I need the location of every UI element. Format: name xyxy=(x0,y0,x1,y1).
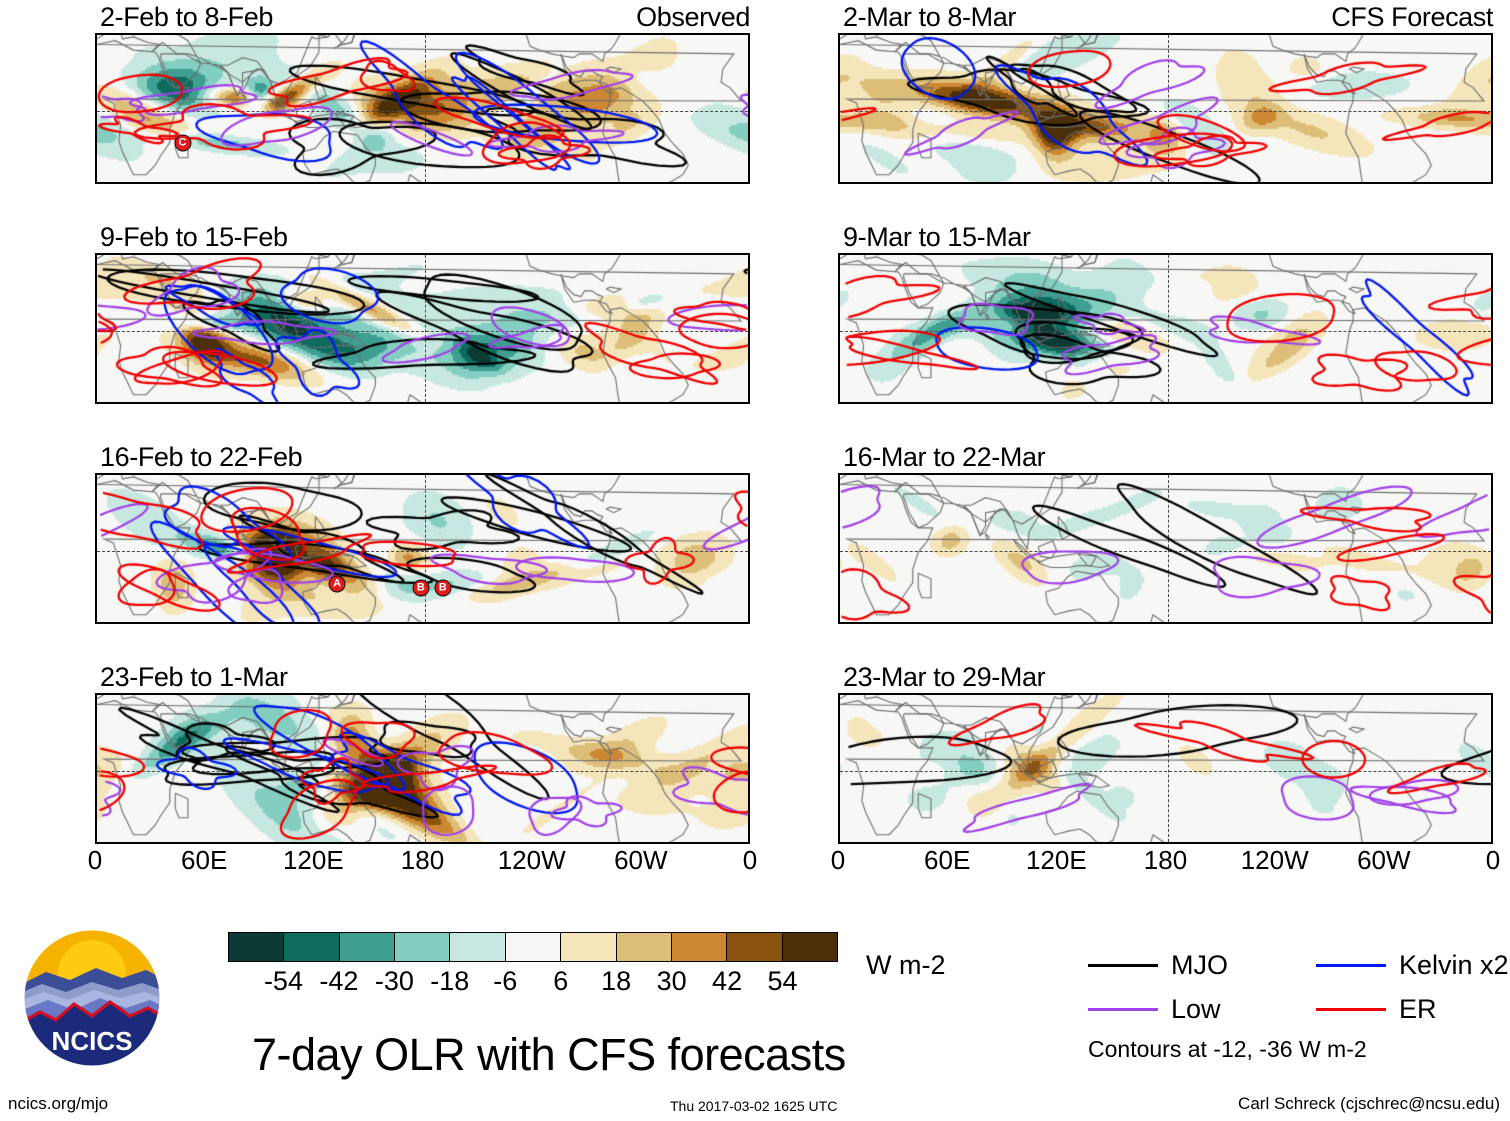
x-tick xyxy=(1459,253,1461,255)
y-tick xyxy=(748,827,750,830)
colorbar-swatch-5 xyxy=(506,933,561,961)
x-tick xyxy=(1386,622,1389,624)
y-tick xyxy=(95,588,97,590)
panel-title-obs-3: 16-Feb to 22-Feb xyxy=(100,442,302,473)
x-tick xyxy=(425,693,428,695)
y-tick xyxy=(1491,92,1493,94)
y-tick xyxy=(1491,808,1493,810)
wave-contours-obs-3 xyxy=(97,475,750,624)
y-tick xyxy=(748,494,750,497)
x-tick xyxy=(279,473,281,475)
x-tick xyxy=(206,253,209,255)
y-tick xyxy=(95,293,97,295)
y-tick xyxy=(838,35,840,37)
x-tick xyxy=(497,253,499,255)
y-tick xyxy=(95,789,97,791)
x-tick xyxy=(749,842,750,844)
lat-label-30S: 30S xyxy=(95,152,97,183)
y-tick xyxy=(748,733,750,735)
x-tick xyxy=(606,253,608,255)
x-tick xyxy=(949,842,952,844)
colorbar-swatch-3 xyxy=(395,933,450,961)
x-tick xyxy=(679,253,681,255)
y-tick xyxy=(748,752,750,754)
x-tick xyxy=(534,182,537,184)
y-tick xyxy=(1491,588,1493,590)
x-tick xyxy=(1386,473,1389,475)
x-tick xyxy=(643,473,646,475)
x-tick xyxy=(1277,842,1280,844)
lat-label-30S: 30S xyxy=(95,372,97,403)
x-tick xyxy=(388,253,390,255)
lon-label-0: 0 xyxy=(88,845,102,876)
x-tick xyxy=(388,402,390,404)
y-tick xyxy=(838,129,840,131)
x-tick xyxy=(534,842,537,844)
x-tick xyxy=(243,693,245,695)
x-tick xyxy=(1240,473,1242,475)
lon-label-180: 180 xyxy=(1144,845,1187,876)
x-tick xyxy=(986,253,988,255)
x-tick xyxy=(133,842,135,844)
x-tick xyxy=(1095,473,1097,475)
colorbar-swatch-8 xyxy=(672,933,727,961)
x-tick xyxy=(1240,693,1242,695)
panel-title-fcst-3: 16-Mar to 22-Mar xyxy=(843,442,1045,473)
y-tick xyxy=(1491,827,1493,830)
contour-note: Contours at -12, -36 W m-2 xyxy=(1088,1036,1367,1063)
x-tick xyxy=(1349,402,1351,404)
x-tick xyxy=(315,253,318,255)
x-tick xyxy=(840,253,843,255)
x-tick xyxy=(749,693,750,695)
x-tick xyxy=(461,842,463,844)
x-tick xyxy=(461,693,463,695)
cyclone-marker: B xyxy=(412,580,429,597)
x-tick xyxy=(497,182,499,184)
x-tick xyxy=(206,842,209,844)
x-tick xyxy=(1386,842,1389,844)
figure-root: 2-Feb to 8-FebObserved30N030SC9-Feb to 1… xyxy=(0,0,1510,1121)
y-tick xyxy=(748,771,750,774)
x-tick xyxy=(1095,182,1097,184)
x-tick xyxy=(1422,402,1424,404)
x-tick xyxy=(243,33,245,35)
map-plot-area-obs-4: 30N030S xyxy=(95,693,750,844)
x-tick xyxy=(716,33,718,35)
y-tick xyxy=(95,255,97,257)
x-tick xyxy=(1492,693,1493,695)
x-tick xyxy=(97,182,100,184)
colorbar-swatch-2 xyxy=(340,933,395,961)
x-tick xyxy=(206,622,209,624)
lat-label-30N: 30N xyxy=(95,698,97,729)
x-tick xyxy=(1459,33,1461,35)
x-tick xyxy=(1022,473,1024,475)
y-tick xyxy=(1491,368,1493,370)
x-tick xyxy=(1277,402,1280,404)
x-tick xyxy=(97,842,100,844)
x-tick xyxy=(1058,253,1061,255)
y-tick xyxy=(748,513,750,515)
x-tick xyxy=(679,402,681,404)
colorbar-swatch-9 xyxy=(727,933,782,961)
x-tick xyxy=(1204,473,1206,475)
y-tick xyxy=(748,387,750,390)
x-tick xyxy=(388,842,390,844)
y-tick xyxy=(1491,54,1493,57)
y-tick xyxy=(1491,771,1493,774)
x-tick xyxy=(133,402,135,404)
colorbar-tick--30: -30 xyxy=(375,966,414,997)
panel-title-fcst-2: 9-Mar to 15-Mar xyxy=(843,222,1031,253)
y-tick xyxy=(748,714,750,717)
y-tick xyxy=(1491,331,1493,334)
x-tick xyxy=(716,473,718,475)
x-tick xyxy=(1492,842,1493,844)
x-tick xyxy=(461,253,463,255)
legend-label: Low xyxy=(1171,996,1221,1023)
x-tick xyxy=(986,402,988,404)
x-tick xyxy=(170,33,172,35)
x-tick xyxy=(1422,842,1424,844)
x-tick xyxy=(1459,402,1461,404)
x-tick xyxy=(643,622,646,624)
y-tick xyxy=(1491,255,1493,257)
colorbar-tick-18: 18 xyxy=(601,966,631,997)
map-panel-obs-2: 9-Feb to 15-Feb30N030S xyxy=(95,222,750,404)
x-tick xyxy=(206,182,209,184)
y-tick xyxy=(748,148,750,150)
lon-label-60E: 60E xyxy=(924,845,970,876)
x-tick xyxy=(1422,622,1424,624)
x-tick xyxy=(1386,253,1389,255)
x-tick xyxy=(1131,842,1133,844)
x-tick xyxy=(1095,402,1097,404)
cyclone-marker: A xyxy=(329,576,346,593)
cyclone-marker: C xyxy=(174,134,191,151)
panel-title-fcst-1: 2-Mar to 8-Mar xyxy=(843,2,1016,33)
x-tick xyxy=(1349,473,1351,475)
x-tick xyxy=(315,842,318,844)
x-tick xyxy=(315,473,318,475)
x-tick xyxy=(1240,33,1242,35)
x-tick xyxy=(749,402,750,404)
x-tick xyxy=(606,182,608,184)
y-tick xyxy=(95,349,97,351)
map-plot-area-obs-1: 30N030SC xyxy=(95,33,750,184)
y-tick xyxy=(748,808,750,810)
x-tick xyxy=(913,693,915,695)
map-panel-obs-4: 23-Feb to 1-Mar30N030S xyxy=(95,662,750,844)
x-tick xyxy=(352,473,354,475)
x-tick xyxy=(876,182,878,184)
x-tick xyxy=(97,473,100,475)
wave-contours-fcst-1 xyxy=(840,35,1493,184)
y-tick xyxy=(1491,607,1493,610)
x-tick xyxy=(315,622,318,624)
x-tick xyxy=(206,473,209,475)
x-tick xyxy=(279,33,281,35)
x-tick xyxy=(534,622,537,624)
lon-label-120E: 120E xyxy=(283,845,344,876)
x-tick xyxy=(1313,693,1315,695)
x-tick xyxy=(170,402,172,404)
x-tick xyxy=(1058,33,1061,35)
colorbar-tick--42: -42 xyxy=(319,966,358,997)
x-tick xyxy=(279,182,281,184)
x-tick xyxy=(679,33,681,35)
y-tick xyxy=(95,752,97,754)
x-tick xyxy=(840,842,843,844)
x-tick xyxy=(1131,693,1133,695)
contour-legend: MJOKelvin x2LowER xyxy=(1088,952,1498,1032)
lon-label-0: 0 xyxy=(831,845,845,876)
x-tick xyxy=(986,693,988,695)
x-tick xyxy=(913,33,915,35)
x-tick xyxy=(1313,182,1315,184)
x-tick xyxy=(749,182,750,184)
map-panel-fcst-4: 23-Mar to 29-Mar xyxy=(838,662,1493,844)
x-tick xyxy=(425,33,428,35)
x-tick xyxy=(1422,693,1424,695)
legend-line-swatch xyxy=(1316,964,1386,967)
y-tick xyxy=(748,695,750,697)
y-tick xyxy=(748,35,750,37)
x-tick xyxy=(534,402,537,404)
x-tick xyxy=(1168,253,1171,255)
x-tick xyxy=(1349,253,1351,255)
y-tick xyxy=(838,551,840,554)
x-tick xyxy=(1240,182,1242,184)
x-tick xyxy=(388,182,390,184)
y-tick xyxy=(748,368,750,370)
y-tick xyxy=(748,475,750,477)
logo-text: NCICS xyxy=(52,1026,133,1056)
y-tick xyxy=(1491,349,1493,351)
lon-label-120W: 120W xyxy=(498,845,566,876)
x-tick xyxy=(716,842,718,844)
y-tick xyxy=(1491,274,1493,277)
x-tick xyxy=(243,182,245,184)
y-tick xyxy=(748,588,750,590)
wave-contours-obs-1 xyxy=(97,35,750,184)
y-tick xyxy=(95,695,97,697)
x-tick xyxy=(425,182,428,184)
x-tick xyxy=(876,473,878,475)
y-tick xyxy=(1491,387,1493,390)
map-panel-obs-3: 16-Feb to 22-Feb30N030SABB xyxy=(95,442,750,624)
x-tick xyxy=(1386,182,1389,184)
x-tick xyxy=(876,33,878,35)
x-tick xyxy=(352,842,354,844)
x-tick xyxy=(1095,842,1097,844)
map-panel-fcst-1: 2-Mar to 8-MarCFS Forecast xyxy=(838,2,1493,184)
x-tick xyxy=(97,253,100,255)
x-axis-labels-left: 060E120E180120W60W0 xyxy=(95,845,750,879)
y-tick xyxy=(1491,73,1493,75)
x-tick xyxy=(913,253,915,255)
x-tick xyxy=(1095,33,1097,35)
lon-label-60W: 60W xyxy=(614,845,667,876)
x-tick xyxy=(1058,693,1061,695)
y-tick xyxy=(1491,752,1493,754)
y-tick xyxy=(838,73,840,75)
page-title: 7-day OLR with CFS forecasts xyxy=(252,1029,846,1081)
x-tick xyxy=(986,33,988,35)
x-tick xyxy=(986,182,988,184)
ncics-logo: NCICS xyxy=(22,928,162,1068)
x-tick xyxy=(1058,182,1061,184)
x-tick xyxy=(170,182,172,184)
y-tick xyxy=(838,714,840,717)
x-tick xyxy=(1058,842,1061,844)
x-tick xyxy=(986,622,988,624)
panel-title-fcst-4: 23-Mar to 29-Mar xyxy=(843,662,1045,693)
map-plot-area-fcst-3 xyxy=(838,473,1493,624)
panel-title-obs-1: 2-Feb to 8-Feb xyxy=(100,2,273,33)
x-tick xyxy=(388,622,390,624)
x-tick xyxy=(1168,693,1171,695)
x-tick xyxy=(1349,622,1351,624)
x-tick xyxy=(840,402,843,404)
colorbar-tick-30: 30 xyxy=(657,966,687,997)
x-tick xyxy=(279,253,281,255)
x-tick xyxy=(1168,33,1171,35)
y-tick xyxy=(838,695,840,697)
x-axis-labels-right: 060E120E180120W60W0 xyxy=(838,845,1493,879)
x-tick xyxy=(1240,253,1242,255)
x-tick xyxy=(497,33,499,35)
x-tick xyxy=(1422,182,1424,184)
x-tick xyxy=(243,473,245,475)
x-tick xyxy=(643,182,646,184)
y-tick xyxy=(838,752,840,754)
colorbar-tick--18: -18 xyxy=(430,966,469,997)
y-tick xyxy=(838,513,840,515)
y-tick xyxy=(1491,129,1493,131)
y-tick xyxy=(748,54,750,57)
x-tick xyxy=(570,622,572,624)
y-tick xyxy=(95,312,97,314)
x-tick xyxy=(1204,693,1206,695)
x-tick xyxy=(1131,33,1133,35)
x-tick xyxy=(352,622,354,624)
y-tick xyxy=(748,73,750,75)
x-tick xyxy=(133,253,135,255)
x-tick xyxy=(133,622,135,624)
map-panel-fcst-2: 9-Mar to 15-Mar xyxy=(838,222,1493,404)
x-tick xyxy=(1492,473,1493,475)
x-tick xyxy=(876,842,878,844)
colorbar-swatch-7 xyxy=(617,933,672,961)
x-tick xyxy=(1277,33,1280,35)
column-header-left: Observed xyxy=(636,2,750,33)
y-tick xyxy=(838,588,840,590)
x-tick xyxy=(1313,33,1315,35)
x-tick xyxy=(606,842,608,844)
column-header-right: CFS Forecast xyxy=(1331,2,1493,33)
x-tick xyxy=(1095,693,1097,695)
y-tick xyxy=(95,73,97,75)
x-tick xyxy=(1277,473,1280,475)
x-tick xyxy=(497,622,499,624)
x-tick xyxy=(1459,693,1461,695)
x-tick xyxy=(1277,693,1280,695)
x-tick xyxy=(1131,622,1133,624)
legend-line-swatch xyxy=(1088,1008,1158,1011)
lon-label-180: 180 xyxy=(401,845,444,876)
wave-contours-fcst-3 xyxy=(840,475,1493,624)
y-tick xyxy=(838,475,840,477)
x-tick xyxy=(949,693,952,695)
x-tick xyxy=(97,622,100,624)
y-tick xyxy=(748,92,750,94)
x-tick xyxy=(570,693,572,695)
x-tick xyxy=(679,622,681,624)
x-tick xyxy=(534,473,537,475)
colorbar-tick-54: 54 xyxy=(768,966,798,997)
lat-label-0: 0 xyxy=(95,755,97,786)
cyclone-marker: B xyxy=(434,580,451,597)
x-tick xyxy=(425,402,428,404)
y-tick xyxy=(95,808,97,810)
wave-contours-obs-2 xyxy=(97,255,750,404)
y-tick xyxy=(95,129,97,131)
x-tick xyxy=(315,33,318,35)
x-tick xyxy=(913,622,915,624)
author-credit: Carl Schreck (cjschrec@ncsu.edu) xyxy=(1238,1094,1500,1114)
y-tick xyxy=(838,607,840,610)
x-tick xyxy=(1313,473,1315,475)
x-tick xyxy=(876,253,878,255)
y-tick xyxy=(838,387,840,390)
x-tick xyxy=(170,622,172,624)
lon-label-60W: 60W xyxy=(1357,845,1410,876)
x-tick xyxy=(840,622,843,624)
x-tick xyxy=(1422,253,1424,255)
y-tick xyxy=(748,167,750,170)
legend-line-swatch xyxy=(1088,964,1158,967)
y-tick xyxy=(95,368,97,370)
x-tick xyxy=(534,693,537,695)
y-tick xyxy=(95,92,97,94)
x-tick xyxy=(315,693,318,695)
x-tick xyxy=(1131,182,1133,184)
x-tick xyxy=(170,842,172,844)
x-tick xyxy=(1349,842,1351,844)
colorbar-tick--54: -54 xyxy=(264,966,303,997)
x-tick xyxy=(986,473,988,475)
y-tick xyxy=(1491,494,1493,497)
y-tick xyxy=(748,789,750,791)
x-tick xyxy=(461,33,463,35)
x-tick xyxy=(1168,473,1171,475)
x-tick xyxy=(1349,182,1351,184)
x-tick xyxy=(1058,473,1061,475)
lon-label-120W: 120W xyxy=(1241,845,1309,876)
x-tick xyxy=(279,842,281,844)
y-tick xyxy=(838,92,840,94)
y-tick xyxy=(748,255,750,257)
lon-label-60E: 60E xyxy=(181,845,227,876)
x-tick xyxy=(206,402,209,404)
x-tick xyxy=(352,402,354,404)
x-tick xyxy=(1240,402,1242,404)
x-tick xyxy=(1022,622,1024,624)
x-tick xyxy=(315,182,318,184)
y-tick xyxy=(95,513,97,515)
